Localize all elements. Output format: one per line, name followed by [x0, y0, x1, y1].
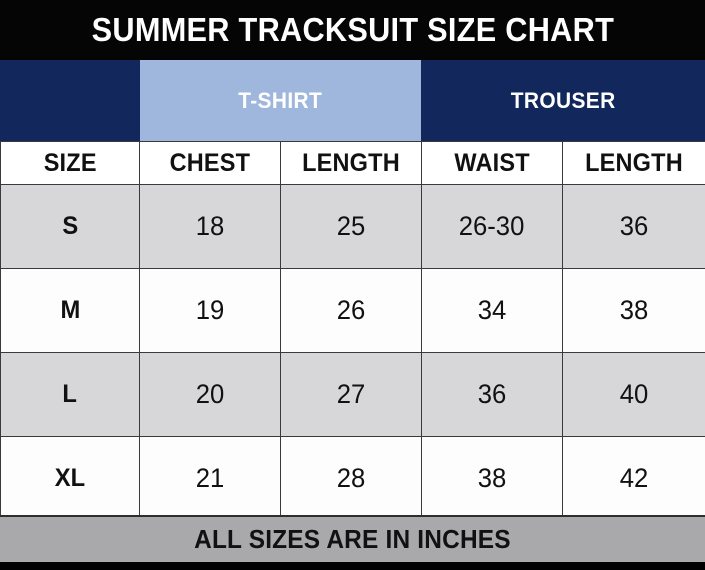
group-header-tshirt-label: T-SHIRT	[239, 88, 323, 114]
cell-shirt-length-value: 25	[337, 211, 366, 242]
group-header-trouser: TROUSER	[421, 60, 705, 141]
column-header-waist: WAIST	[422, 142, 563, 185]
cell-trouser-length-value: 36	[620, 211, 649, 242]
cell-waist: 26-30	[422, 185, 563, 269]
cell-trouser-length: 40	[563, 353, 705, 437]
column-header-chest: CHEST	[140, 142, 281, 185]
cell-size-value: M	[60, 296, 80, 325]
column-header-chest-label: CHEST	[170, 149, 251, 178]
group-header-band: T-SHIRT TROUSER	[0, 60, 705, 141]
column-header-trouser-length-label: LENGTH	[585, 149, 683, 178]
cell-shirt-length-value: 28	[337, 463, 366, 494]
cell-shirt-length: 25	[281, 185, 422, 269]
footer-note-text: ALL SIZES ARE IN INCHES	[194, 524, 511, 555]
cell-waist: 38	[422, 437, 563, 521]
cell-chest: 18	[140, 185, 281, 269]
cell-trouser-length-value: 38	[620, 295, 649, 326]
cell-size-value: XL	[55, 464, 85, 493]
cell-trouser-length: 42	[563, 437, 705, 521]
cell-size-value: S	[62, 212, 78, 241]
cell-shirt-length-value: 26	[337, 295, 366, 326]
cell-size-value: L	[63, 380, 78, 409]
cell-trouser-length: 36	[563, 185, 705, 269]
cell-chest-value: 21	[196, 463, 225, 494]
column-header-shirt-length-label: LENGTH	[302, 149, 400, 178]
cell-shirt-length: 26	[281, 269, 422, 353]
cell-trouser-length-value: 42	[620, 463, 649, 494]
footer-note-band: ALL SIZES ARE IN INCHES	[0, 515, 705, 562]
cell-chest-value: 20	[196, 379, 225, 410]
table-row: M 19 26 34 38	[1, 269, 705, 353]
table-header-row: SIZE CHEST LENGTH WAIST LENGTH	[1, 142, 705, 185]
cell-waist-value: 38	[478, 463, 507, 494]
size-chart: SUMMER TRACKSUIT SIZE CHART T-SHIRT TROU…	[0, 0, 705, 570]
cell-waist-value: 34	[478, 295, 507, 326]
cell-shirt-length-value: 27	[337, 379, 366, 410]
column-header-size-label: SIZE	[44, 149, 97, 178]
title-bar: SUMMER TRACKSUIT SIZE CHART	[0, 0, 705, 60]
cell-trouser-length-value: 40	[620, 379, 649, 410]
column-header-shirt-length: LENGTH	[281, 142, 422, 185]
cell-chest: 20	[140, 353, 281, 437]
cell-chest-value: 18	[196, 211, 225, 242]
cell-chest: 21	[140, 437, 281, 521]
table-row: L 20 27 36 40	[1, 353, 705, 437]
cell-waist-value: 36	[478, 379, 507, 410]
cell-size: S	[1, 185, 140, 269]
cell-waist-value: 26-30	[459, 211, 525, 242]
cell-chest: 19	[140, 269, 281, 353]
cell-waist: 34	[422, 269, 563, 353]
cell-shirt-length: 28	[281, 437, 422, 521]
bottom-strip	[0, 562, 705, 570]
cell-size: M	[1, 269, 140, 353]
size-table: SIZE CHEST LENGTH WAIST LENGTH S 18 25 2…	[0, 141, 705, 521]
cell-waist: 36	[422, 353, 563, 437]
group-header-trouser-label: TROUSER	[511, 88, 616, 114]
cell-trouser-length: 38	[563, 269, 705, 353]
size-table-area: SIZE CHEST LENGTH WAIST LENGTH S 18 25 2…	[0, 141, 705, 515]
cell-shirt-length: 27	[281, 353, 422, 437]
cell-chest-value: 19	[196, 295, 225, 326]
column-header-trouser-length: LENGTH	[563, 142, 705, 185]
column-header-size: SIZE	[1, 142, 140, 185]
group-header-tshirt: T-SHIRT	[140, 60, 421, 141]
table-row: S 18 25 26-30 36	[1, 185, 705, 269]
page-title: SUMMER TRACKSUIT SIZE CHART	[91, 11, 613, 49]
table-row: XL 21 28 38 42	[1, 437, 705, 521]
cell-size: XL	[1, 437, 140, 521]
cell-size: L	[1, 353, 140, 437]
group-header-spacer	[0, 60, 140, 141]
column-header-waist-label: WAIST	[454, 149, 529, 178]
